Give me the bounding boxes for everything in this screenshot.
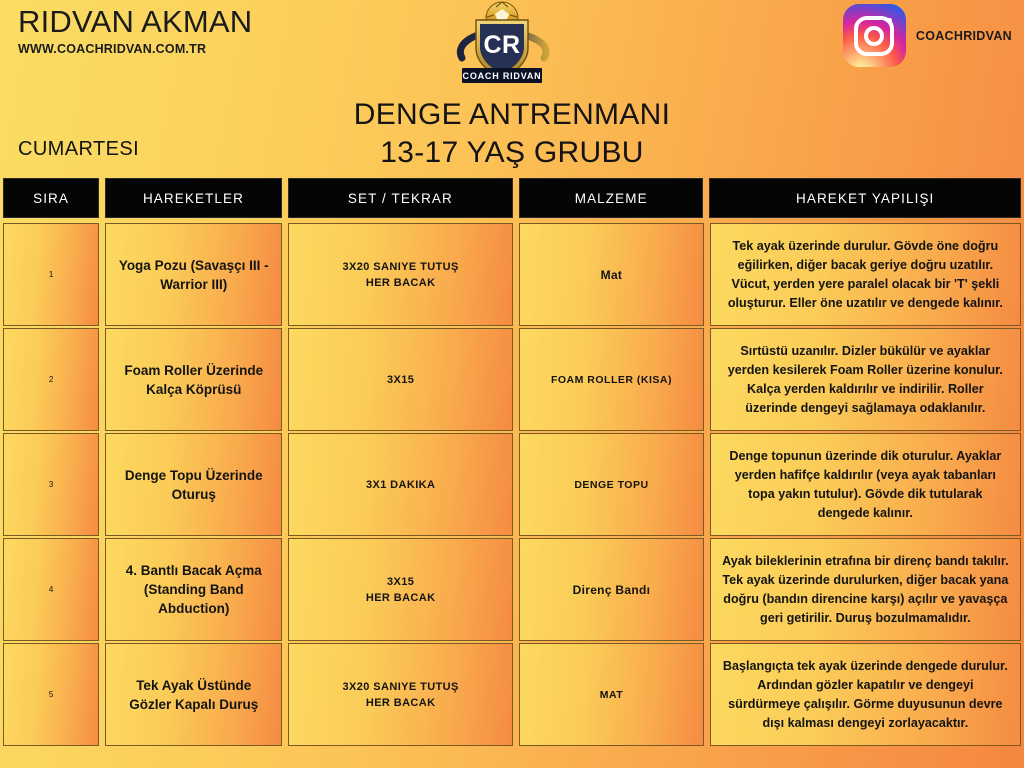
table-row: 1 Yoga Pozu (Savaşçı III - Warrior III) … — [0, 222, 1024, 327]
coach-name: RIDVAN AKMAN — [18, 4, 252, 40]
table-row: 3 Denge Topu Üzerinde Oturuş 3X1 DAKIKA … — [0, 432, 1024, 537]
cell-hareket: Denge Topu Üzerinde Oturuş — [105, 433, 282, 536]
cell-yapilis: Başlangıçta tek ayak üzerinde dengede du… — [710, 643, 1021, 746]
instagram-link[interactable]: COACHRIDVAN — [843, 4, 1012, 67]
set-value: 3X15 — [387, 372, 414, 388]
cell-hareket: Yoga Pozu (Savaşçı III - Warrior III) — [105, 223, 282, 326]
cell-sira: 4 — [3, 538, 99, 641]
cell-sira: 5 — [3, 643, 99, 746]
yapilis-value: Tek ayak üzerinde durulur. Gövde öne doğ… — [718, 237, 1013, 313]
set-value: 3X15 HER BACAK — [366, 574, 436, 606]
svg-text:CR: CR — [483, 31, 520, 59]
title-line-1: DENGE ANTRENMANI — [354, 98, 671, 131]
page-title: DENGE ANTRENMANI 13-17 YAŞ GRUBU — [0, 96, 1024, 172]
hareket-value: Foam Roller Üzerinde Kalça Köprüsü — [113, 361, 274, 399]
column-header-sira: SIRA — [3, 178, 99, 218]
instagram-handle: COACHRIDVAN — [916, 29, 1012, 43]
cell-yapilis: Ayak bileklerinin etrafına bir direnç ba… — [710, 538, 1021, 641]
cell-set: 3X15 — [288, 328, 513, 431]
page-header: RIDVAN AKMAN WWW.COACHRIDVAN.COM.TR — [0, 0, 1024, 92]
cell-sira: 2 — [3, 328, 99, 431]
logo-caption: COACH RIDVAN — [463, 71, 542, 81]
malzeme-value: MAT — [600, 689, 623, 701]
hareket-value: Tek Ayak Üstünde Gözler Kapalı Duruş — [113, 676, 274, 714]
cell-set: 3X1 DAKIKA — [288, 433, 513, 536]
coach-ridvan-logo: CR COACH RIDVAN — [432, 0, 572, 92]
yapilis-value: Denge topunun üzerinde dik oturulur. Aya… — [718, 447, 1013, 523]
cell-malzeme: Mat — [519, 223, 703, 326]
website-url: WWW.COACHRIDVAN.COM.TR — [18, 42, 252, 56]
malzeme-value: Mat — [601, 268, 623, 282]
column-header-hareket-yapilisi: HAREKET YAPILIŞI — [709, 178, 1021, 218]
title-line-2: 13-17 YAŞ GRUBU — [0, 134, 1024, 172]
malzeme-value: Direnç Bandı — [573, 583, 651, 597]
cell-yapilis: Tek ayak üzerinde durulur. Gövde öne doğ… — [710, 223, 1021, 326]
table-row: 5 Tek Ayak Üstünde Gözler Kapalı Duruş 3… — [0, 642, 1024, 747]
cell-set: 3X20 SANIYE TUTUŞ HER BACAK — [288, 643, 513, 746]
yapilis-value: Başlangıçta tek ayak üzerinde dengede du… — [718, 657, 1013, 733]
brand-block: RIDVAN AKMAN WWW.COACHRIDVAN.COM.TR — [18, 4, 252, 56]
instagram-icon[interactable] — [843, 4, 906, 67]
cell-hareket: Tek Ayak Üstünde Gözler Kapalı Duruş — [105, 643, 282, 746]
set-value: 3X20 SANIYE TUTUŞ HER BACAK — [343, 679, 459, 711]
cr-shield-icon: CR COACH RIDVAN — [432, 0, 572, 92]
sira-value: 2 — [49, 375, 54, 384]
cell-set: 3X15 HER BACAK — [288, 538, 513, 641]
column-header-set-tekrar: SET / TEKRAR — [288, 178, 513, 218]
yapilis-value: Ayak bileklerinin etrafına bir direnç ba… — [718, 552, 1013, 628]
yapilis-value: Sırtüstü uzanılır. Dizler bükülür ve aya… — [718, 342, 1013, 418]
title-block: DENGE ANTRENMANI 13-17 YAŞ GRUBU CUMARTE… — [0, 92, 1024, 178]
cell-malzeme: MAT — [519, 643, 703, 746]
sira-value: 1 — [49, 270, 54, 279]
hareket-value: 4. Bantlı Bacak Açma (Standing Band Abdu… — [113, 561, 274, 618]
hareket-value: Yoga Pozu (Savaşçı III - Warrior III) — [113, 256, 274, 294]
malzeme-value: FOAM ROLLER (KISA) — [551, 374, 672, 386]
table-header-row: SIRA HAREKETLER SET / TEKRAR MALZEME HAR… — [0, 178, 1024, 218]
cell-sira: 1 — [3, 223, 99, 326]
cell-hareket: Foam Roller Üzerinde Kalça Köprüsü — [105, 328, 282, 431]
cell-set: 3X20 SANIYE TUTUŞ HER BACAK — [288, 223, 513, 326]
cell-malzeme: FOAM ROLLER (KISA) — [519, 328, 703, 431]
sira-value: 5 — [49, 690, 54, 699]
table-row: 4 4. Bantlı Bacak Açma (Standing Band Ab… — [0, 537, 1024, 642]
cell-malzeme: Direnç Bandı — [519, 538, 703, 641]
cell-yapilis: Sırtüstü uzanılır. Dizler bükülür ve aya… — [710, 328, 1021, 431]
table-row: 2 Foam Roller Üzerinde Kalça Köprüsü 3X1… — [0, 327, 1024, 432]
malzeme-value: DENGE TOPU — [574, 479, 648, 491]
set-value: 3X1 DAKIKA — [366, 477, 435, 493]
column-header-malzeme: MALZEME — [519, 178, 703, 218]
set-value: 3X20 SANIYE TUTUŞ HER BACAK — [343, 259, 459, 291]
cell-sira: 3 — [3, 433, 99, 536]
hareket-value: Denge Topu Üzerinde Oturuş — [113, 466, 274, 504]
day-label: CUMARTESI — [18, 138, 139, 161]
workout-table: SIRA HAREKETLER SET / TEKRAR MALZEME HAR… — [0, 178, 1024, 747]
cell-hareket: 4. Bantlı Bacak Açma (Standing Band Abdu… — [105, 538, 282, 641]
cell-malzeme: DENGE TOPU — [519, 433, 703, 536]
column-header-hareketler: HAREKETLER — [105, 178, 282, 218]
sira-value: 4 — [49, 585, 54, 594]
sira-value: 3 — [49, 480, 54, 489]
cell-yapilis: Denge topunun üzerinde dik oturulur. Aya… — [710, 433, 1021, 536]
